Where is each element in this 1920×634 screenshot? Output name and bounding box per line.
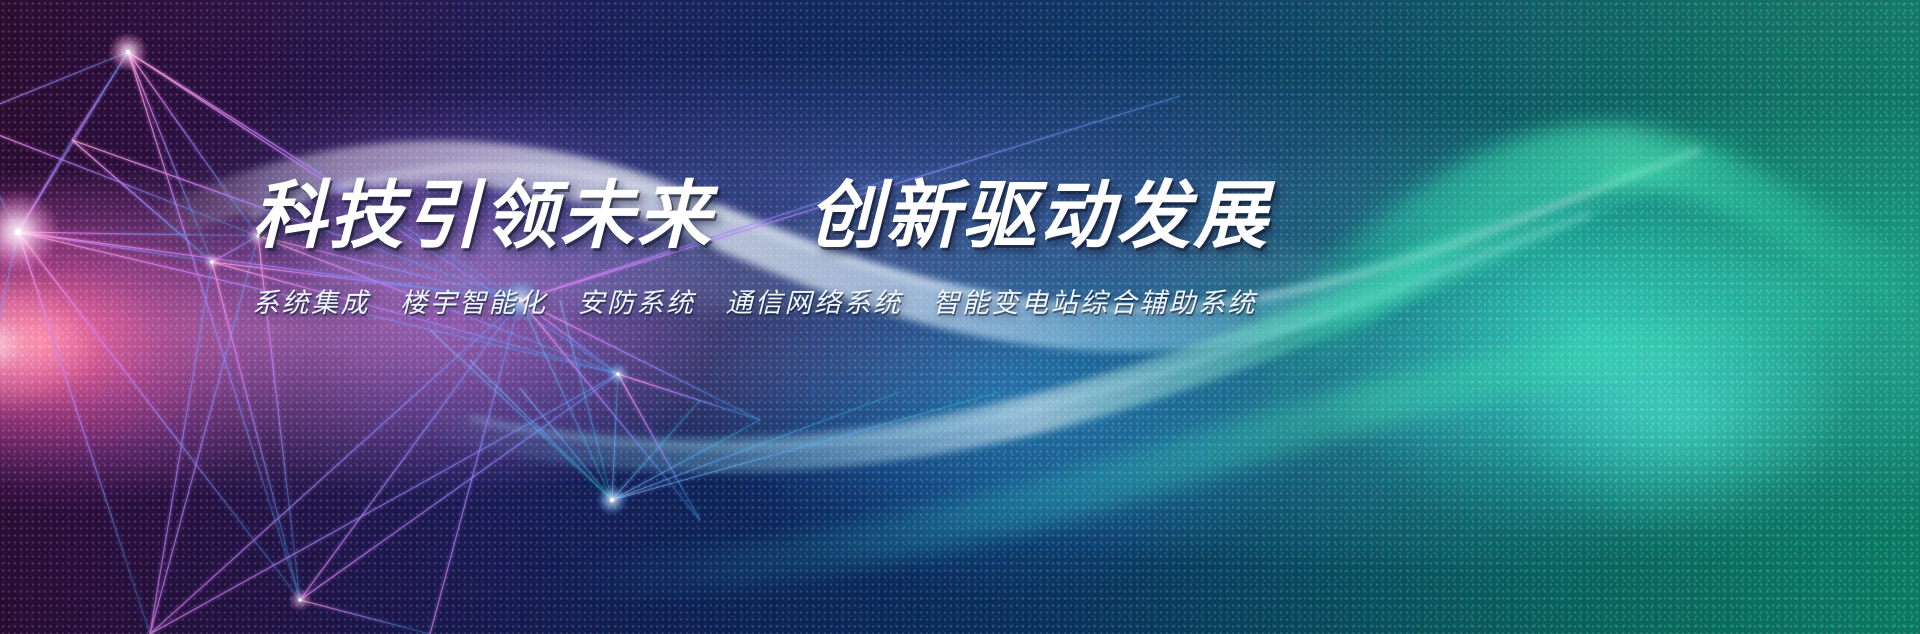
hero-banner: 科技引领未来 创新驱动发展 系统集成 楼宇智能化 安防系统 通信网络系统 智能变…	[0, 0, 1920, 634]
banner-copy: 科技引领未来 创新驱动发展 系统集成 楼宇智能化 安防系统 通信网络系统 智能变…	[252, 178, 1652, 320]
ribbon-lower	[560, 300, 1880, 600]
wireframe-edges-left	[0, 52, 1180, 634]
banner-subline: 系统集成 楼宇智能化 安防系统 通信网络系统 智能变电站综合辅助系统	[252, 253, 1652, 320]
wireframe-edges-center	[430, 300, 1000, 500]
glow-red-core	[0, 230, 240, 460]
wireframe-nodes	[0, 32, 630, 612]
banner-headline: 科技引领未来 创新驱动发展	[252, 178, 1652, 253]
glow-violet	[120, 30, 940, 630]
glow-green	[1190, 60, 1920, 634]
